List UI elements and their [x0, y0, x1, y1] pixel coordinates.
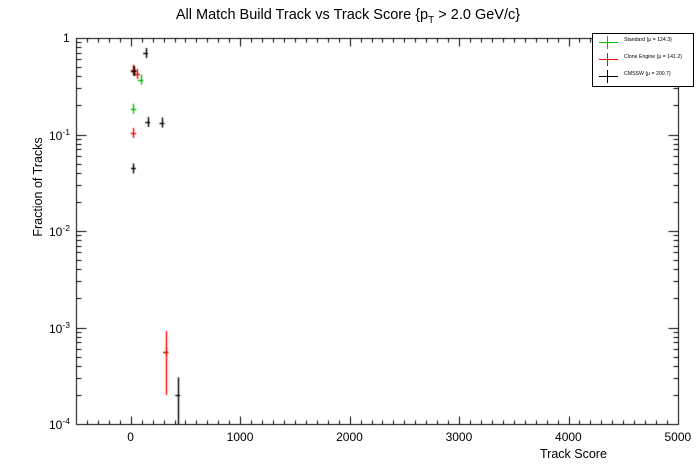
x-tick-label: 3000: [446, 430, 473, 444]
legend-label: Clone Engine {μ = 141.2}: [624, 54, 682, 60]
x-tick-label: 0: [127, 430, 134, 444]
legend-label: CMSSW {μ = 200.7}: [624, 71, 671, 77]
y-tick-label: 10-4: [49, 416, 70, 432]
legend-marker-line: [599, 42, 618, 43]
x-tick-label: 2000: [336, 430, 363, 444]
y-tick-label: 10-1: [49, 127, 70, 143]
y-tick-label: 1: [63, 31, 70, 45]
legend-marker-tick: [607, 36, 608, 49]
y-tick-label: 10-3: [49, 320, 70, 336]
x-tick-label: 4000: [555, 430, 582, 444]
y-tick-label: 10-2: [49, 223, 70, 239]
x-tick-label: 1000: [227, 430, 254, 444]
legend-entry: Clone Engine {μ = 141.2}: [593, 51, 693, 68]
legend-marker-line: [599, 76, 618, 77]
legend-entry: Standard {μ = 124.3}: [593, 34, 693, 51]
legend-marker-tick: [607, 53, 608, 66]
legend-marker-line: [599, 59, 618, 60]
legend-entry: CMSSW {μ = 200.7}: [593, 68, 693, 85]
legend-label: Standard {μ = 124.3}: [624, 37, 672, 43]
x-tick-label: 5000: [665, 430, 692, 444]
legend-marker-tick: [607, 70, 608, 83]
legend-box: Standard {μ = 124.3} Clone Engine {μ = 1…: [592, 33, 694, 87]
